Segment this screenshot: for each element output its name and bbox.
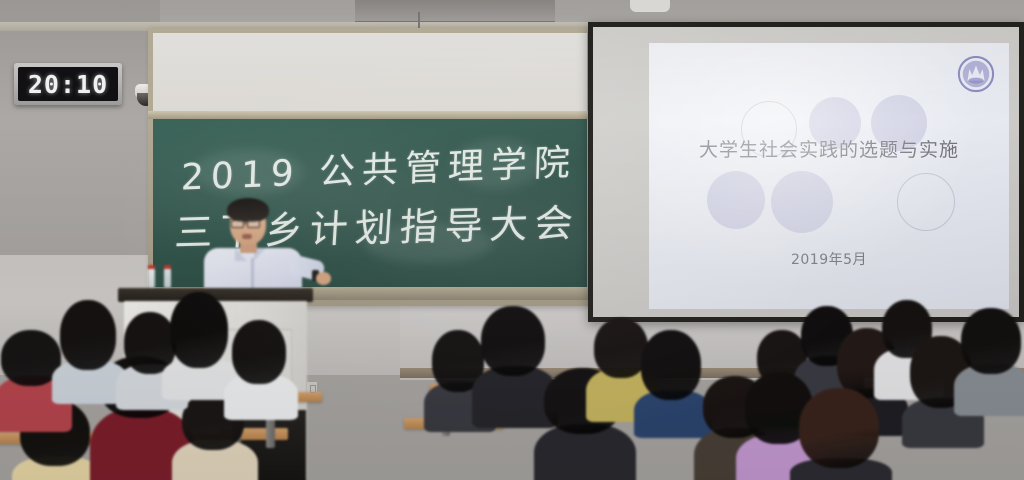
audience-member: [640, 330, 702, 426]
audience-member: [960, 308, 1022, 404]
audience-member: [230, 320, 288, 408]
audience-member: [478, 306, 548, 416]
audience: [0, 0, 1024, 480]
audience-member: [168, 292, 230, 388]
audience-member-head: [60, 300, 116, 370]
audience-member-head: [961, 308, 1021, 374]
audience-member: [58, 300, 118, 392]
audience-member-head: [641, 330, 701, 400]
audience-member: [796, 388, 882, 480]
audience-member-head: [799, 388, 879, 468]
lecture-hall-photo: 20:10 2019 公共管理学院 三下乡计划指导大会: [0, 0, 1024, 480]
audience-member-head: [481, 306, 545, 376]
audience-member-head: [170, 292, 228, 368]
audience-member-head: [232, 320, 286, 384]
